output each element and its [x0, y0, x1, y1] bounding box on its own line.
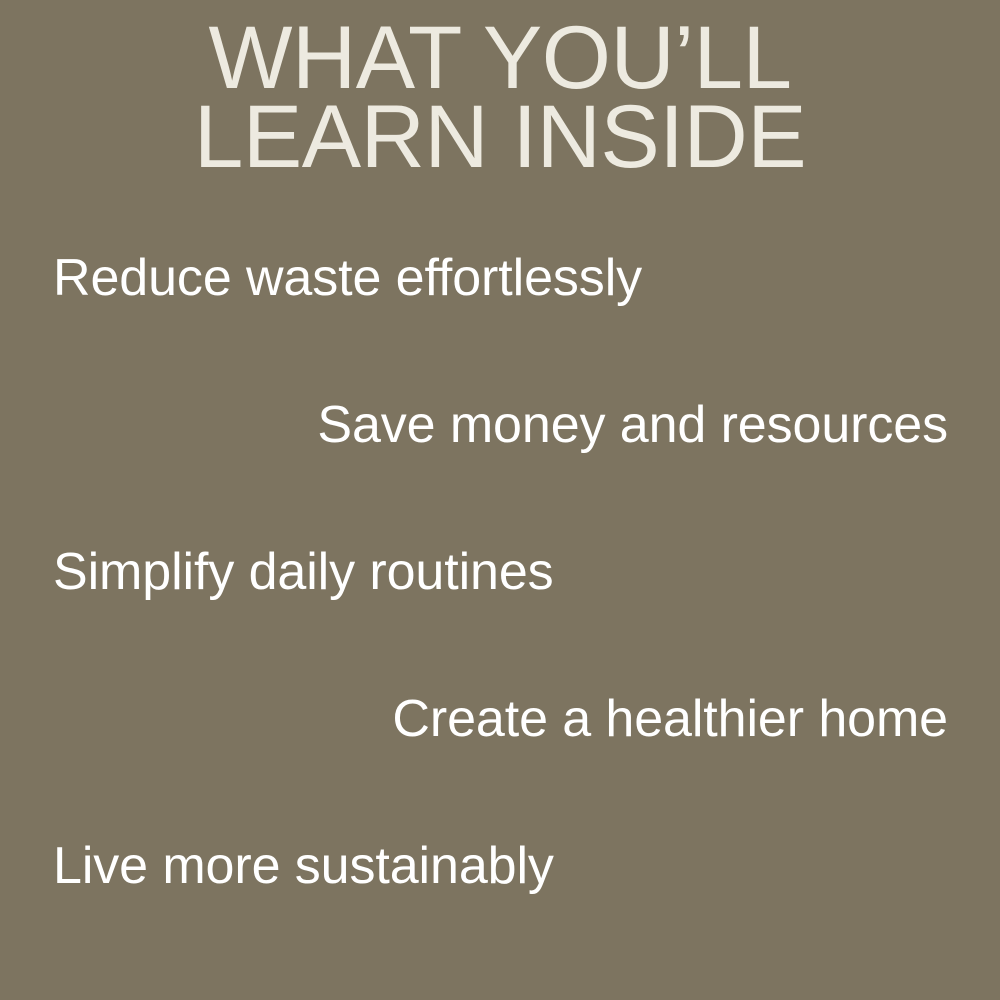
benefit-item-5: Live more sustainably: [0, 840, 1000, 987]
poster-canvas: WHAT YOU’LL LEARN INSIDE Reduce waste ef…: [0, 0, 1000, 1000]
page-title: WHAT YOU’LL LEARN INSIDE: [0, 18, 1000, 176]
page-title-line-2: LEARN INSIDE: [0, 97, 1000, 176]
benefit-item-2: Save money and resources: [0, 399, 1000, 546]
benefit-item-4: Create a healthier home: [0, 693, 1000, 840]
benefit-item-3: Simplify daily routines: [0, 546, 1000, 693]
benefits-list: Reduce waste effortlessly Save money and…: [0, 252, 1000, 987]
benefit-item-1: Reduce waste effortlessly: [0, 252, 1000, 399]
